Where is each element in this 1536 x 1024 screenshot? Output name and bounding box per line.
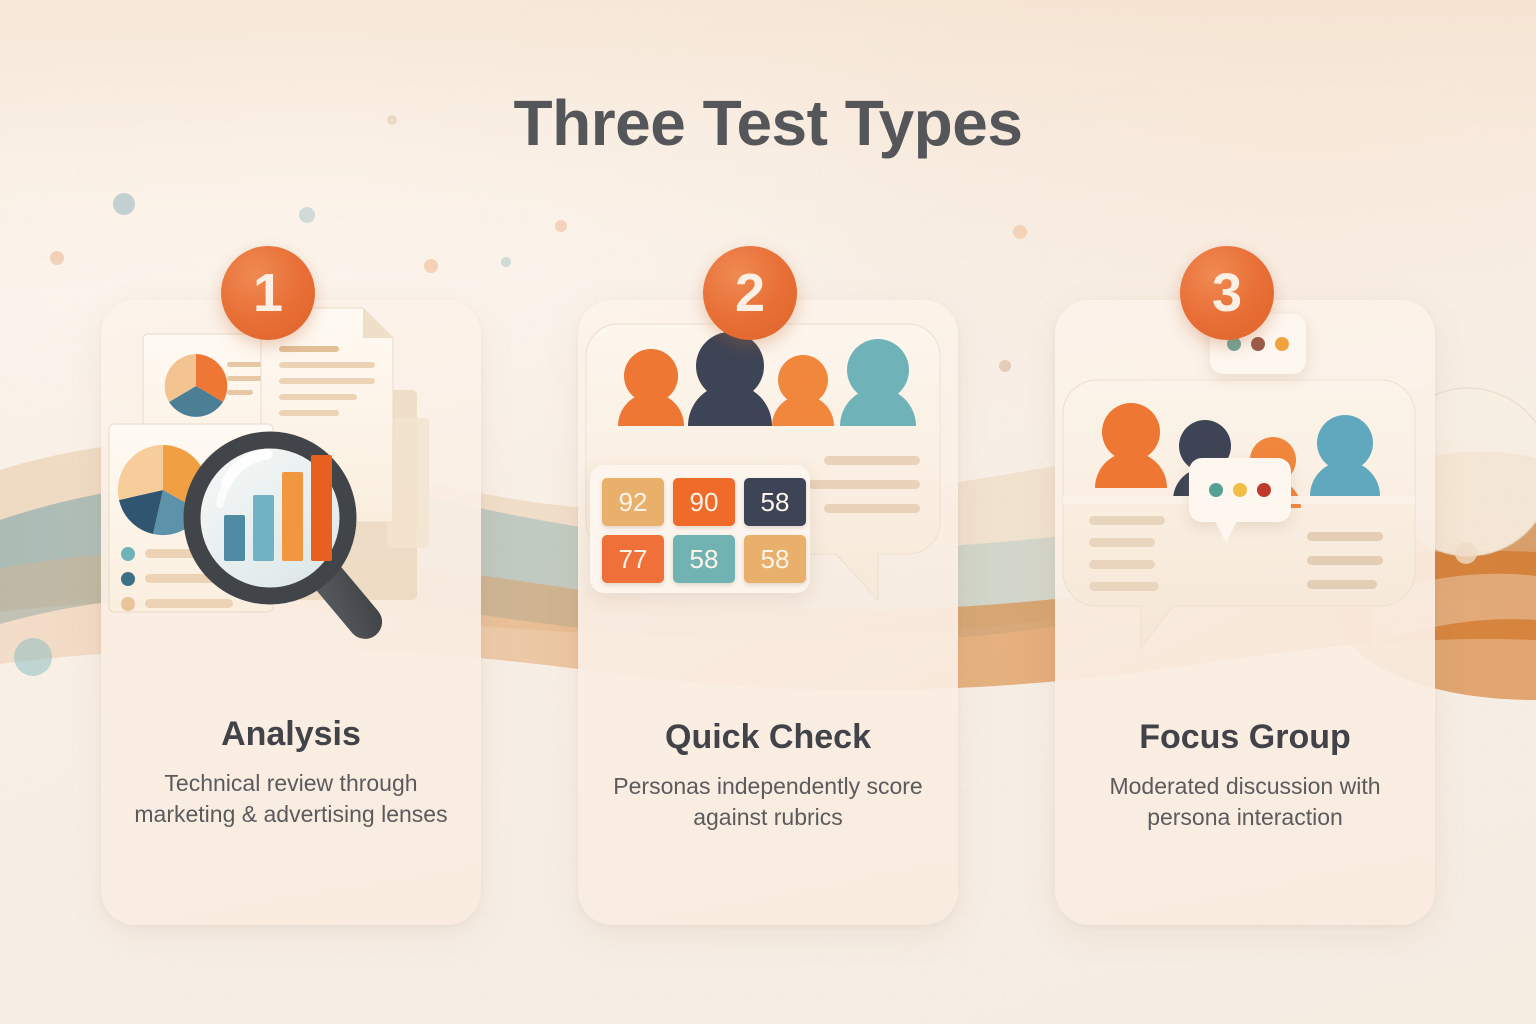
- chat-dot: [1257, 483, 1271, 497]
- card-analysis[interactable]: Analysis Technical review through market…: [101, 300, 481, 925]
- chat-dot: [1209, 483, 1223, 497]
- card-focus-group-title: Focus Group: [1055, 718, 1435, 757]
- card-quick-check-description: Personas independently score against rub…: [578, 771, 958, 833]
- score-tile: 77: [602, 535, 664, 583]
- score-tile: 58: [744, 478, 806, 526]
- chat-bubble-center: [1189, 458, 1291, 522]
- step-badge-3: 3: [1180, 246, 1274, 340]
- score-tile: 90: [673, 478, 735, 526]
- card-analysis-title: Analysis: [101, 715, 481, 754]
- card-focus-group-description: Moderated discussion with persona intera…: [1055, 771, 1435, 833]
- score-tile: 58: [744, 535, 806, 583]
- card-analysis-description: Technical review through marketing & adv…: [101, 768, 481, 830]
- infographic-canvas: Three Test Types: [0, 0, 1536, 1024]
- chat-dot: [1233, 483, 1247, 497]
- card-focus-group-text: Focus Group Moderated discussion with pe…: [1055, 718, 1435, 833]
- chat-dot: [1275, 337, 1289, 351]
- score-grid: 92 90 58 77 58 58: [590, 465, 810, 593]
- chat-bubble-center-tail: [1215, 521, 1237, 543]
- step-badge-2: 2: [703, 246, 797, 340]
- score-tile: 92: [602, 478, 664, 526]
- card-quick-check-text: Quick Check Personas independently score…: [578, 718, 958, 833]
- step-badge-1: 1: [221, 246, 315, 340]
- card-quick-check-title: Quick Check: [578, 718, 958, 757]
- chat-dot: [1251, 337, 1265, 351]
- card-focus-group[interactable]: Focus Group Moderated discussion with pe…: [1055, 300, 1435, 925]
- card-analysis-text: Analysis Technical review through market…: [101, 715, 481, 830]
- card-quick-check[interactable]: 92 90 58 77 58 58 Quick Check Personas i…: [578, 300, 958, 925]
- documents-magnifier-icon: [101, 300, 481, 700]
- score-tile: 58: [673, 535, 735, 583]
- page-title: Three Test Types: [0, 86, 1536, 160]
